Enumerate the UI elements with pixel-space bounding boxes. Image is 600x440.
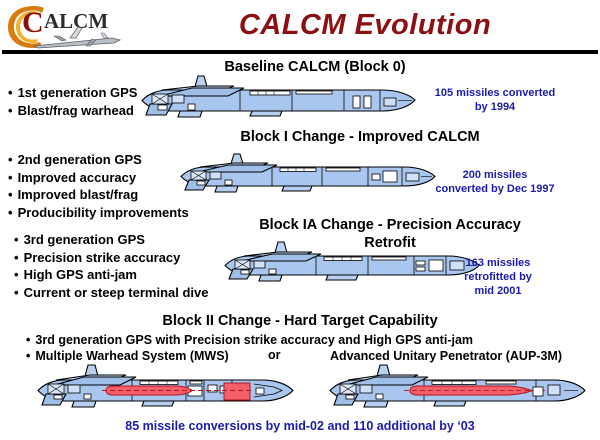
list-item: High GPS anti-jam [14, 266, 209, 284]
calcm-aup3m-cutaway-icon [320, 362, 590, 416]
calcm-logo: C ALCM [4, 2, 130, 52]
conversion-note-block-i: 200 missiles converted by Dec 1997 [400, 168, 590, 196]
list-item: 3rd generation GPS [14, 231, 209, 249]
list-item: Blast/frag warhead [8, 102, 137, 120]
block-ii-conversion-caption: 85 missile conversions by mid-02 and 110… [80, 419, 520, 433]
list-item: 2nd generation GPS [8, 151, 189, 169]
list-item: Precision strike accuracy [14, 249, 209, 267]
header-divider [2, 50, 598, 54]
note-line: mid 2001 [408, 284, 588, 298]
block-ii-bullet-1: 3rd generation GPS with Precision strike… [26, 332, 473, 348]
section-heading-block-ii: Block II Change - Hard Target Capability [120, 312, 480, 330]
calcm-mws-cutaway-icon [28, 362, 298, 416]
retrofit-note-block-ia: 163 missiles retrofitted by mid 2001 [408, 256, 588, 298]
note-line: by 1994 [400, 100, 590, 114]
bullet-list-block-ia: 3rd generation GPS Precision strike accu… [14, 231, 209, 301]
or-separator: or [268, 348, 281, 362]
list-item: 1st generation GPS [8, 84, 137, 102]
list-item: Improved blast/frag [8, 186, 189, 204]
calcm-block0-cutaway-icon [132, 74, 420, 124]
list-item: Current or steep terminal dive [14, 284, 209, 302]
list-item: Producibility improvements [8, 204, 189, 222]
note-line: 163 missiles [408, 256, 588, 270]
bullet-list-block-i: 2nd generation GPS Improved accuracy Imp… [8, 151, 189, 221]
note-line: 200 missiles [400, 168, 590, 182]
slide-canvas: C ALCM CALCM Evolution Baseline CALCM (B… [0, 0, 600, 440]
note-line: 105 missiles converted [400, 86, 590, 100]
svg-text:C: C [22, 6, 44, 39]
heading-line: Block IA Change - Precision Accuracy [250, 216, 530, 234]
list-item-text: 3rd generation GPS with Precision strike… [26, 333, 473, 347]
section-heading-block-i: Block I Change - Improved CALCM [195, 128, 525, 146]
bullet-list-baseline: 1st generation GPS Blast/frag warhead [8, 84, 137, 119]
list-item-text: Multiple Warhead System (MWS) [26, 349, 229, 363]
note-line: retrofitted by [408, 270, 588, 284]
list-item: Improved accuracy [8, 169, 189, 187]
conversion-note-baseline: 105 missiles converted by 1994 [400, 86, 590, 114]
page-title: CALCM Evolution [150, 6, 580, 44]
note-line: converted by Dec 1997 [400, 182, 590, 196]
